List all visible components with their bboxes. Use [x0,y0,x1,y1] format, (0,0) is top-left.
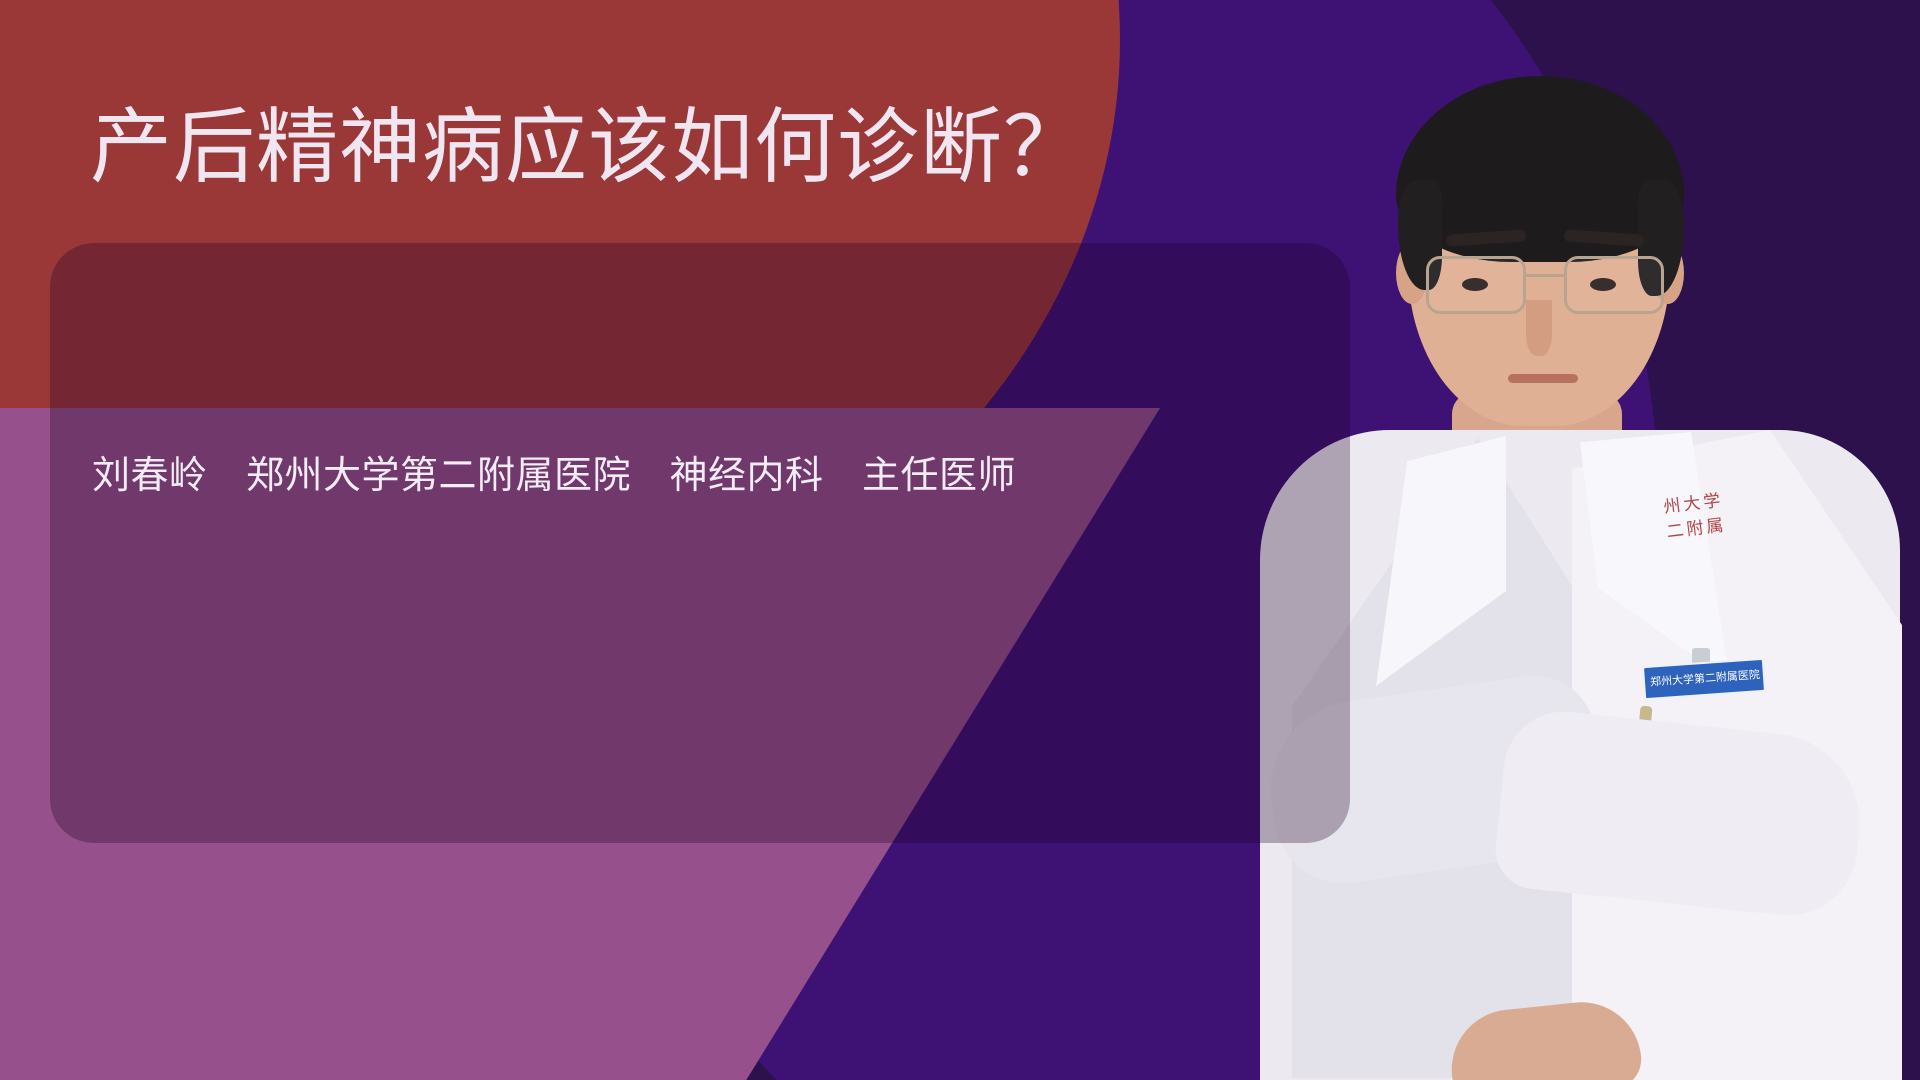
slide-title: 产后精神病应该如何诊断？ [90,100,1270,197]
portrait-nose [1526,300,1552,356]
slide-byline: 刘春岭 郑州大学第二附属医院 神经内科 主任医师 [92,452,1016,501]
text-card-overlay [50,243,1350,843]
coat-embroidery-text: 州大学 二附属 [1662,489,1728,545]
eyeglass-lens-left [1426,256,1526,314]
video-title-card: 州大学 二附属 郑州大学第二附属医院 产后精神病应该如何诊断？ 刘春岭 郑州大学… [0,0,1920,1080]
id-badge-text: 郑州大学第二附属医院 [1650,666,1761,690]
eyeglass-bridge [1526,274,1564,277]
eyeglass-lens-right [1564,256,1664,314]
text-card-inner [50,243,1350,843]
portrait-mouth [1508,374,1578,383]
